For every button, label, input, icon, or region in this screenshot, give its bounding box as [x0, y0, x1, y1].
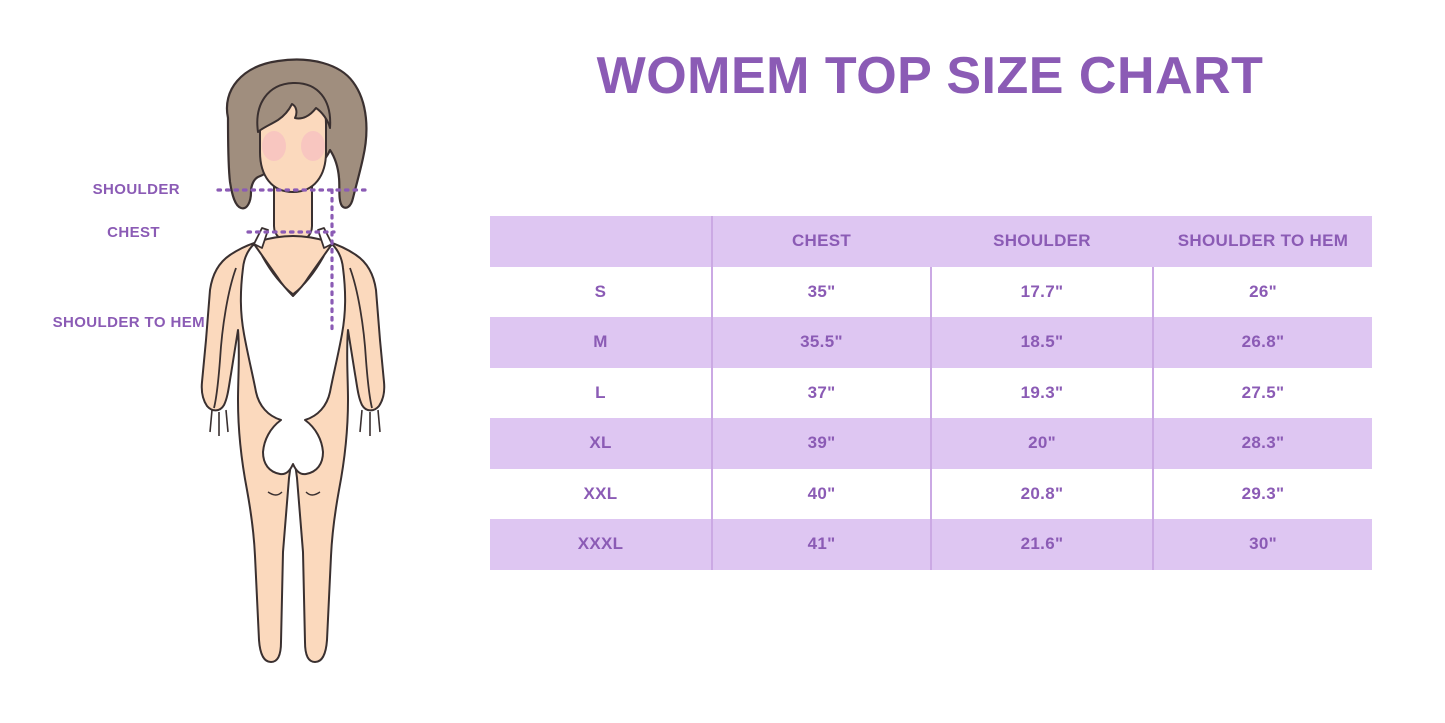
- table-row: XXL 40" 20.8" 29.3": [490, 469, 1372, 520]
- cell-shoulder-to-hem: 29.3": [1153, 469, 1372, 520]
- cell-size: M: [490, 317, 712, 368]
- cell-size: XL: [490, 418, 712, 469]
- cell-shoulder-to-hem: 28.3": [1153, 418, 1372, 469]
- cell-shoulder-to-hem: 26": [1153, 267, 1372, 318]
- cell-shoulder: 21.6": [931, 519, 1153, 570]
- column-header-shoulder-to-hem: SHOULDER TO HEM: [1153, 216, 1372, 267]
- cell-chest: 37": [712, 368, 931, 419]
- table-header: CHEST SHOULDER SHOULDER TO HEM: [490, 216, 1372, 267]
- cell-chest: 35": [712, 267, 931, 318]
- measure-label-shoulder-to-hem: SHOULDER TO HEM: [53, 314, 205, 331]
- column-header-size: [490, 216, 712, 267]
- cell-chest: 40": [712, 469, 931, 520]
- hand-right: [360, 410, 380, 436]
- cell-shoulder-to-hem: 30": [1153, 519, 1372, 570]
- cell-size: L: [490, 368, 712, 419]
- cell-shoulder: 19.3": [931, 368, 1153, 419]
- measure-label-chest: CHEST: [107, 224, 160, 241]
- measure-label-shoulder: SHOULDER: [93, 181, 180, 198]
- table-row: S 35" 17.7" 26": [490, 267, 1372, 318]
- table-row: XL 39" 20" 28.3": [490, 418, 1372, 469]
- neck-shape: [274, 186, 312, 242]
- cell-size: S: [490, 267, 712, 318]
- table-row: M 35.5" 18.5" 26.8": [490, 317, 1372, 368]
- blush-cheek-left: [262, 131, 286, 161]
- table-row: XXXL 41" 21.6" 30": [490, 519, 1372, 570]
- blush-cheek-right: [301, 131, 325, 161]
- cell-chest: 35.5": [712, 317, 931, 368]
- cell-size: XXXL: [490, 519, 712, 570]
- cell-size: XXL: [490, 469, 712, 520]
- size-chart-page: WOMEM TOP SIZE CHART: [0, 0, 1445, 723]
- size-chart-table: CHEST SHOULDER SHOULDER TO HEM S 35" 17.…: [490, 216, 1372, 570]
- page-title: WOMEM TOP SIZE CHART: [470, 48, 1390, 105]
- table-header-row: CHEST SHOULDER SHOULDER TO HEM: [490, 216, 1372, 267]
- cell-chest: 41": [712, 519, 931, 570]
- cell-chest: 39": [712, 418, 931, 469]
- cell-shoulder: 20": [931, 418, 1153, 469]
- column-header-chest: CHEST: [712, 216, 931, 267]
- hand-left: [210, 410, 228, 436]
- cell-shoulder-to-hem: 27.5": [1153, 368, 1372, 419]
- cell-shoulder: 20.8": [931, 469, 1153, 520]
- cell-shoulder-to-hem: 26.8": [1153, 317, 1372, 368]
- female-figure-illustration: [150, 40, 460, 690]
- table-body: S 35" 17.7" 26" M 35.5" 18.5" 26.8" L 37…: [490, 267, 1372, 570]
- cell-shoulder: 17.7": [931, 267, 1153, 318]
- column-header-shoulder: SHOULDER: [931, 216, 1153, 267]
- cell-shoulder: 18.5": [931, 317, 1153, 368]
- table-row: L 37" 19.3" 27.5": [490, 368, 1372, 419]
